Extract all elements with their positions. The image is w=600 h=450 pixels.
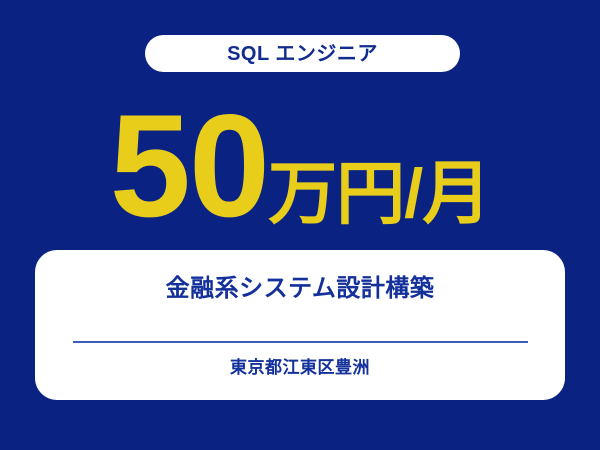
job-title: 金融系システム設計構築 bbox=[35, 276, 565, 302]
job-role-badge: SQL エンジニア bbox=[145, 35, 460, 72]
price-amount: 50 bbox=[110, 108, 268, 225]
price-block: 50 万円/月 bbox=[0, 100, 600, 225]
job-detail-card: 金融系システム設計構築 東京都江東区豊洲 bbox=[35, 250, 565, 400]
job-role-badge-label: SQL エンジニア bbox=[227, 44, 378, 64]
price-unit: 万円/月 bbox=[268, 166, 490, 225]
job-offer-poster: SQL エンジニア 50 万円/月 金融系システム設計構築 東京都江東区豊洲 bbox=[0, 0, 600, 450]
job-location: 東京都江東区豊洲 bbox=[35, 358, 565, 378]
card-divider bbox=[73, 341, 528, 343]
